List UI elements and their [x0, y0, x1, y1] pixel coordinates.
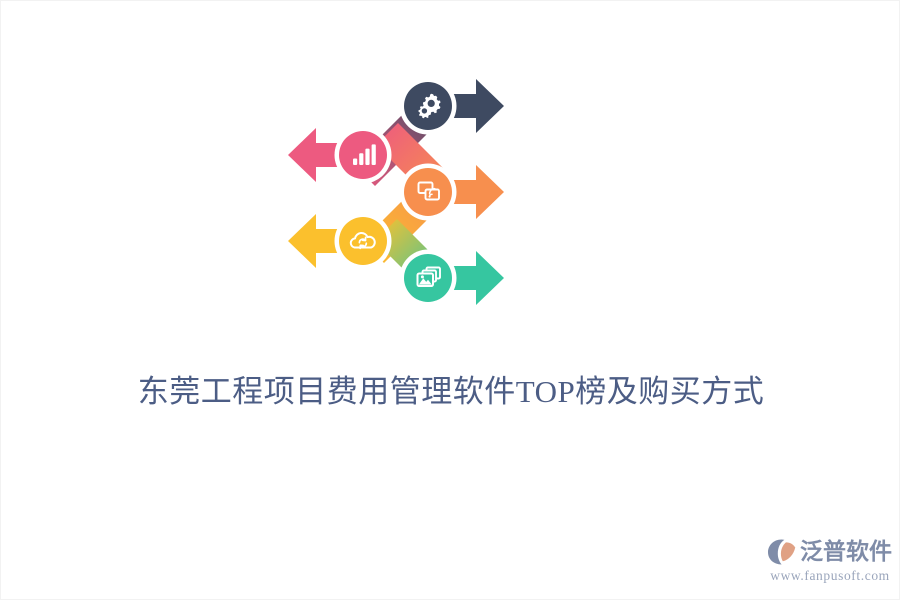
page-title: 东莞工程项目费用管理软件TOP榜及购买方式 [1, 369, 900, 415]
zigzag-arrow-infographic [271, 61, 521, 311]
arrow-item-3[interactable] [400, 164, 505, 221]
arrow-item-5[interactable] [400, 250, 505, 307]
swoosh-inner [781, 542, 795, 561]
brand-name: 泛普软件 [800, 538, 892, 566]
fanpu-swoosh-icon [767, 538, 797, 566]
arrow-item-1[interactable] [400, 78, 505, 135]
logo-row: 泛普软件 [767, 537, 893, 567]
arrow-item-2[interactable] [288, 127, 392, 184]
arrow-item-4[interactable] [288, 213, 392, 270]
infographic-svg [271, 61, 521, 311]
brand-logo: 泛普软件 www.fanpusoft.com [767, 537, 893, 585]
page-root: 东莞工程项目费用管理软件TOP榜及购买方式 泛普软件 www.fanpusoft… [0, 0, 900, 600]
brand-url: www.fanpusoft.com [767, 568, 893, 584]
